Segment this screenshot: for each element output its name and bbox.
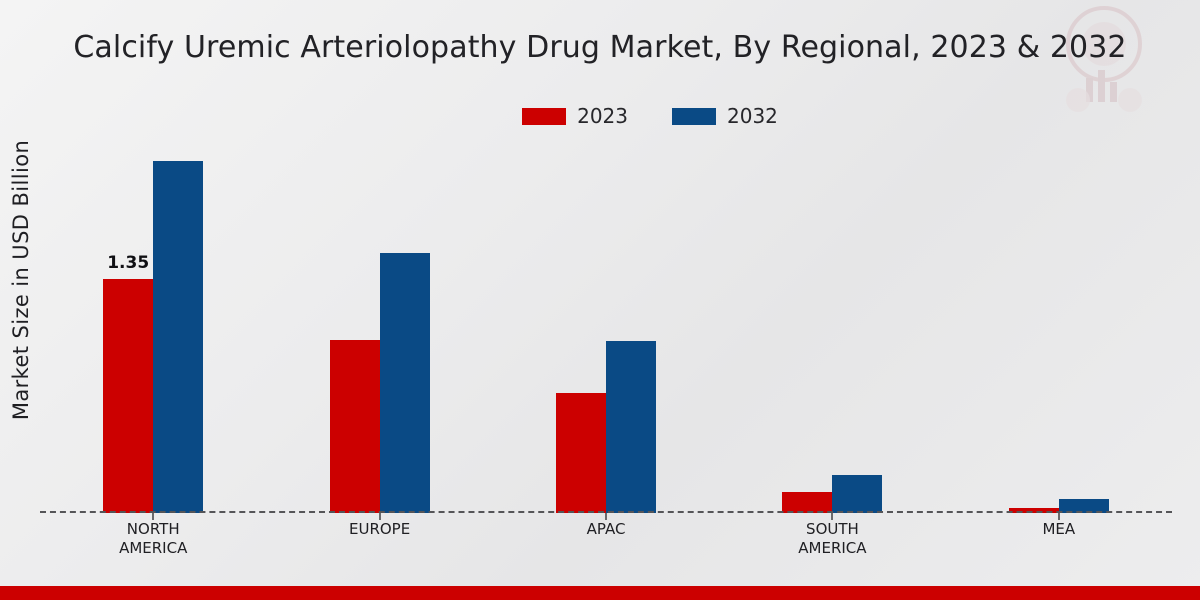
x-axis-tick — [831, 513, 833, 520]
chart-figure: Calcify Uremic Arteriolopathy Drug Marke… — [0, 0, 1200, 600]
bar-2032-europe[interactable] — [380, 253, 430, 513]
bar-value-label: 1.35 — [107, 253, 149, 273]
x-axis-category-label: SOUTHAMERICA — [719, 520, 945, 558]
bar-pair: 1.35 — [40, 140, 266, 513]
bar-2023-europe[interactable] — [330, 340, 380, 513]
legend-swatch-2023 — [522, 108, 566, 125]
x-axis-tick — [379, 513, 381, 520]
bar-group: 1.35NORTHAMERICA — [40, 140, 266, 513]
footer-accent-bar — [0, 586, 1200, 600]
bar-group: MEA — [946, 140, 1172, 513]
category-label-line2: AMERICA — [719, 539, 945, 558]
bar-2023-apac[interactable] — [556, 393, 606, 513]
y-axis-label-text: Market Size in USD Billion — [9, 140, 33, 420]
x-axis-tick — [605, 513, 607, 520]
x-axis-tick — [1058, 513, 1060, 520]
category-label-line1: MEA — [1042, 520, 1075, 538]
x-axis-category-label: EUROPE — [266, 520, 492, 539]
category-label-line1: EUROPE — [349, 520, 410, 538]
plot-area: 1.35NORTHAMERICAEUROPEAPACSOUTHAMERICAME… — [40, 140, 1190, 513]
legend-label-2032: 2032 — [727, 104, 778, 128]
x-axis-tick — [152, 513, 154, 520]
bar-2032-south-america[interactable] — [832, 475, 882, 513]
x-axis-category-label: MEA — [946, 520, 1172, 539]
bar-2032-north-america[interactable] — [153, 161, 203, 513]
bar-2023-south-america[interactable] — [782, 492, 832, 513]
legend-item-2023[interactable]: 2023 — [522, 104, 628, 128]
bar-pair — [493, 140, 719, 513]
x-axis-category-label: NORTHAMERICA — [40, 520, 266, 558]
y-axis-label: Market Size in USD Billion — [2, 0, 40, 560]
legend-swatch-2032 — [672, 108, 716, 125]
x-axis-baseline — [40, 511, 1172, 513]
bar-group: SOUTHAMERICA — [719, 140, 945, 513]
category-label-line1: NORTH — [127, 520, 180, 538]
bar-pair — [946, 140, 1172, 513]
category-label-line1: SOUTH — [806, 520, 859, 538]
bar-pair — [719, 140, 945, 513]
legend-item-2032[interactable]: 2032 — [672, 104, 778, 128]
category-label-line1: APAC — [587, 520, 626, 538]
bar-pair — [266, 140, 492, 513]
chart-title: Calcify Uremic Arteriolopathy Drug Marke… — [0, 30, 1200, 65]
bar-group: APAC — [493, 140, 719, 513]
bar-2023-north-america[interactable]: 1.35 — [103, 279, 153, 513]
bar-group: EUROPE — [266, 140, 492, 513]
bar-2032-apac[interactable] — [606, 341, 656, 513]
x-axis-category-label: APAC — [493, 520, 719, 539]
bar-groups: 1.35NORTHAMERICAEUROPEAPACSOUTHAMERICAME… — [40, 140, 1172, 513]
legend-label-2023: 2023 — [577, 104, 628, 128]
chart-legend: 2023 2032 — [0, 104, 1200, 128]
category-label-line2: AMERICA — [40, 539, 266, 558]
